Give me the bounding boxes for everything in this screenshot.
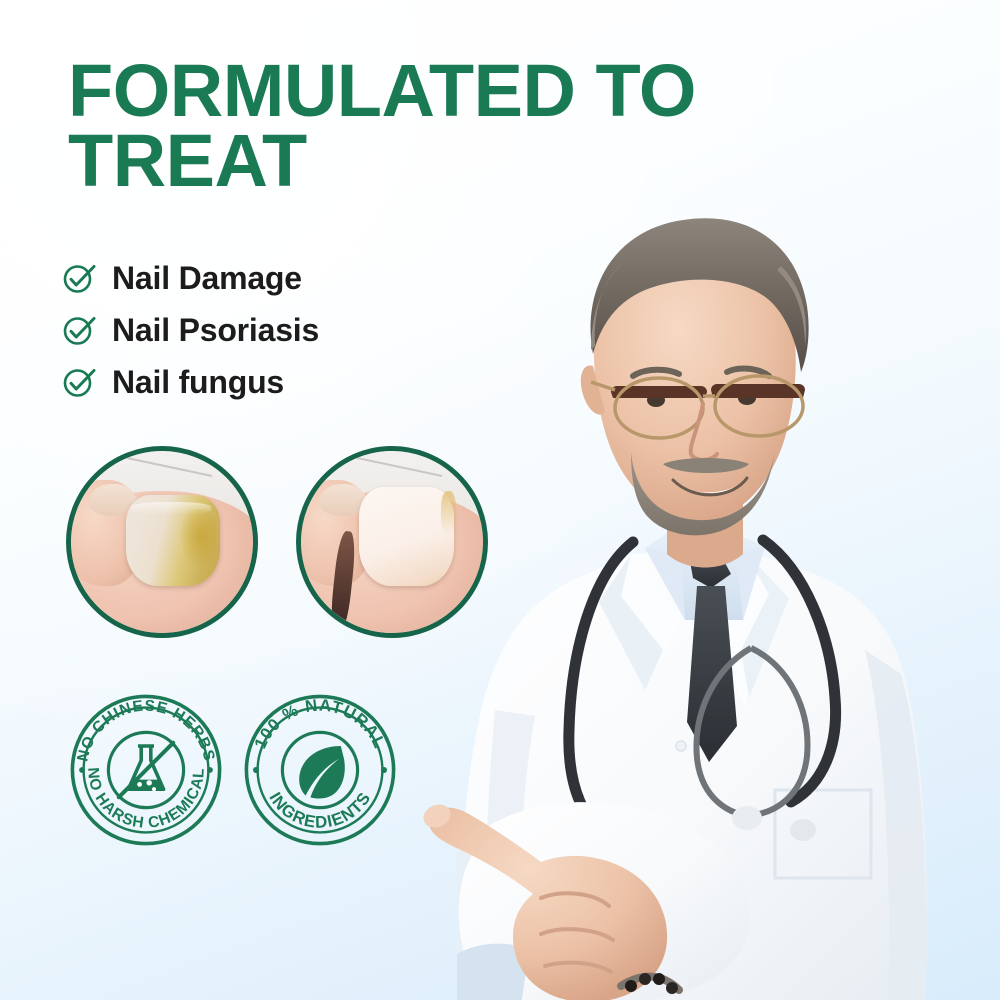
head <box>581 218 809 535</box>
list-item-label: Nail Psoriasis <box>112 312 319 349</box>
badge-bottom-text: NO HARSH CHEMICAL <box>84 767 208 832</box>
stethoscope-chestpiece <box>732 806 762 830</box>
badge-top-text: NO CHINESE HERBS <box>74 698 217 764</box>
list-item-label: Nail Damage <box>112 260 302 297</box>
doctor-portrait <box>345 150 1000 1000</box>
no-flask-icon <box>108 732 183 807</box>
circle-check-icon <box>62 365 96 399</box>
no-chinese-herbs-badge: NO CHINESE HERBS NO HARSH CHEMICAL <box>66 690 226 850</box>
circle-check-icon <box>62 261 96 295</box>
promo-banner: FORMULATED TO TREAT Nail Damage Nail Pso… <box>0 0 1000 1000</box>
damaged-toenail <box>126 495 221 586</box>
circle-check-icon <box>62 313 96 347</box>
stethoscope-earpiece <box>790 819 816 841</box>
leaf-icon <box>299 746 345 799</box>
nail-photo-before <box>66 446 258 638</box>
list-item-label: Nail fungus <box>112 364 284 401</box>
